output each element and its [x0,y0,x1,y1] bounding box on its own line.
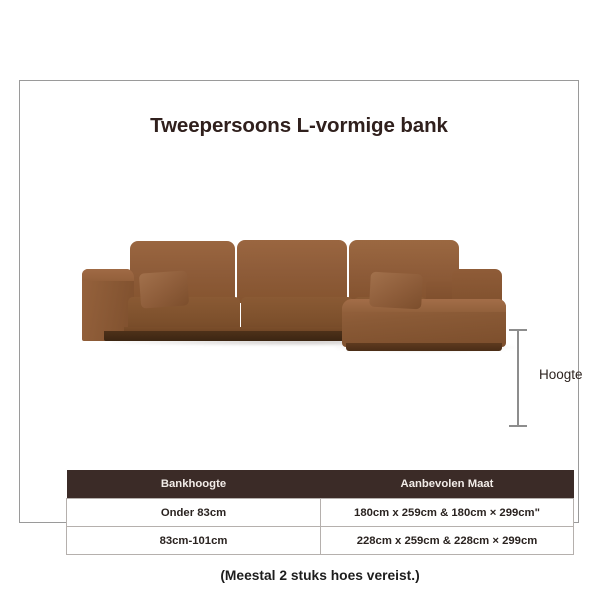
cell-bankhoogte-2: 83cm-101cm [67,527,321,555]
cell-aanbevolen-maat-2: 228cm x 259cm & 228cm × 299cm [321,527,574,555]
footnote-text: (Meestal 2 stuks hoes vereist.) [20,568,600,583]
page-root: Tweepersoons L-vormige bank [0,0,600,600]
size-table-body: Onder 83cm 180cm x 259cm & 180cm × 299cm… [67,499,574,555]
cell-aanbevolen-maat-1: 180cm x 259cm & 180cm × 299cm" [321,499,574,527]
throw-pillow-left [139,270,189,308]
table-row: Onder 83cm 180cm x 259cm & 180cm × 299cm… [67,499,574,527]
left-armrest-top [82,269,134,281]
column-header-aanbevolen-maat: Aanbevolen Maat [321,470,574,499]
height-dimension-label: Hoogte [539,367,583,382]
sofa-graphic [80,231,500,356]
size-table-head: Bankhoogte Aanbevolen Maat [67,470,574,499]
size-table: Bankhoogte Aanbevolen Maat Onder 83cm 18… [66,470,574,555]
sofa-illustration [20,231,580,431]
chaise-top [342,299,506,312]
height-dimension-cap-top [509,329,527,331]
column-header-bankhoogte: Bankhoogte [67,470,321,499]
height-dimension-cap-bottom [509,425,527,427]
sofa-plinth [104,331,354,341]
cell-bankhoogte-1: Onder 83cm [67,499,321,527]
sofa-shape [80,231,500,356]
page-title: Tweepersoons L-vormige bank [20,114,578,138]
table-header-row: Bankhoogte Aanbevolen Maat [67,470,574,499]
height-dimension-line [517,329,519,427]
backrest-cushion-2 [237,240,347,303]
table-row: 83cm-101cm 228cm x 259cm & 228cm × 299cm [67,527,574,555]
chaise-plinth [346,343,502,351]
info-card: Tweepersoons L-vormige bank [19,80,579,523]
throw-pillow-right [369,272,423,310]
